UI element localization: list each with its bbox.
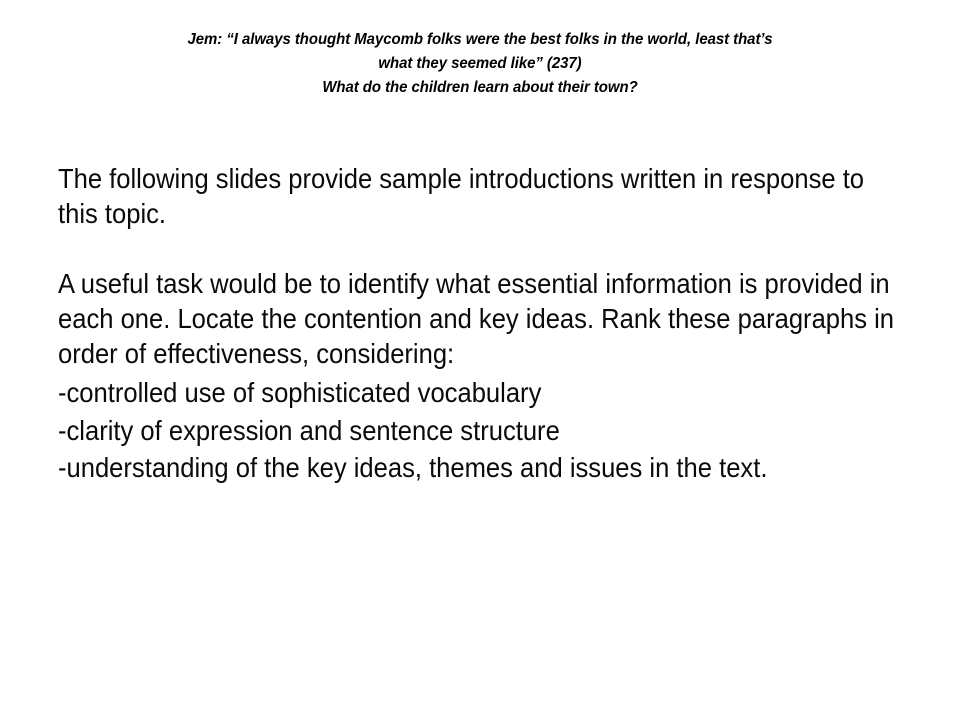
title-line-3: What do the children learn about their t… (67, 76, 893, 100)
body-paragraph-1: The following slides provide sample intr… (58, 161, 906, 231)
paragraph-spacer (58, 231, 906, 266)
slide-canvas: Jem: “I always thought Maycomb folks wer… (0, 0, 960, 720)
title-line-2: what they seemed like” (237) (67, 52, 893, 76)
criteria-item-vocabulary: -controlled use of sophisticated vocabul… (58, 374, 906, 412)
body-paragraph-2: A useful task would be to identify what … (58, 266, 906, 371)
criteria-item-understanding: -understanding of the key ideas, themes … (58, 450, 906, 485)
slide-body: The following slides provide sample intr… (58, 161, 906, 485)
criteria-item-clarity: -clarity of expression and sentence stru… (58, 412, 906, 450)
slide-title: Jem: “I always thought Maycomb folks wer… (52, 28, 908, 100)
title-line-1: Jem: “I always thought Maycomb folks wer… (67, 28, 893, 52)
